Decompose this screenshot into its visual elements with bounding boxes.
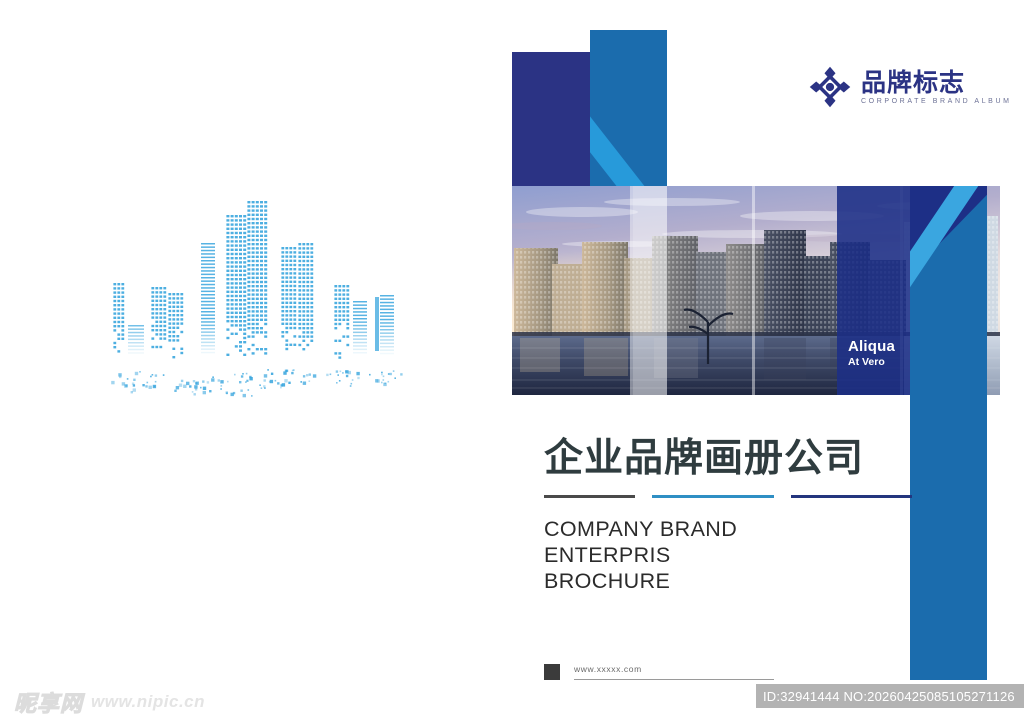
cover-title-en-line-3: BROCHURE <box>544 568 944 594</box>
diamond-compass-logo-icon <box>807 64 853 110</box>
brand-name-en: CORPORATE BRAND ALBUM <box>861 98 1012 105</box>
divider-segment-navy <box>791 495 912 498</box>
cover-title-block: 企业品牌画册公司 COMPANY BRAND ENTERPRIS BROCHUR… <box>544 437 944 594</box>
footer-rule <box>574 679 774 680</box>
cover-title-en-line-1: COMPANY BRAND <box>544 516 944 542</box>
watermark-site-domain: www.nipic.cn <box>91 692 205 712</box>
cover-title-cn: 企业品牌画册公司 <box>544 437 944 481</box>
hero-caption-subtitle: At Vero <box>848 355 895 369</box>
brand-name-cn: 品牌标志 <box>861 69 1012 96</box>
decor-bar-navy <box>512 52 590 187</box>
front-cover-page: 品牌标志 CORPORATE BRAND ALBUM <box>512 0 1024 724</box>
brand-logo: 品牌标志 CORPORATE BRAND ALBUM <box>807 64 1012 110</box>
cover-title-en-line-2: ENTERPRIS <box>544 542 944 568</box>
cover-title-en: COMPANY BRAND ENTERPRIS BROCHURE <box>544 516 944 594</box>
title-divider <box>544 495 912 498</box>
brand-wordmark: 品牌标志 CORPORATE BRAND ALBUM <box>861 69 1012 105</box>
watermark-site-cjk: 昵享网 <box>14 686 83 718</box>
divider-segment-gray <box>544 495 635 498</box>
pixel-city-skyline-illustration <box>95 185 435 430</box>
divider-gap-2 <box>774 495 791 498</box>
back-cover-page <box>0 0 512 724</box>
footer-square-mark <box>544 664 560 680</box>
divider-gap-1 <box>635 495 652 498</box>
watermark-id-bar: ID:32941444 NO:20260425085105271126 <box>756 684 1024 708</box>
decor-diagonal-streak <box>590 78 652 187</box>
decor-side-strip <box>910 186 987 680</box>
hero-caption: Aliqua At Vero <box>848 338 895 369</box>
hero-caption-title: Aliqua <box>848 338 895 355</box>
brochure-spread: 品牌标志 CORPORATE BRAND ALBUM <box>0 0 1024 724</box>
footer-url-wrap: www.xxxxx.com <box>574 664 864 680</box>
footer-url: www.xxxxx.com <box>574 664 642 674</box>
divider-segment-blue <box>652 495 773 498</box>
stock-site-watermark: 昵享网 www.nipic.cn <box>14 686 205 718</box>
cover-footer: www.xxxxx.com <box>544 664 864 680</box>
decor-bar-blue <box>590 30 667 187</box>
